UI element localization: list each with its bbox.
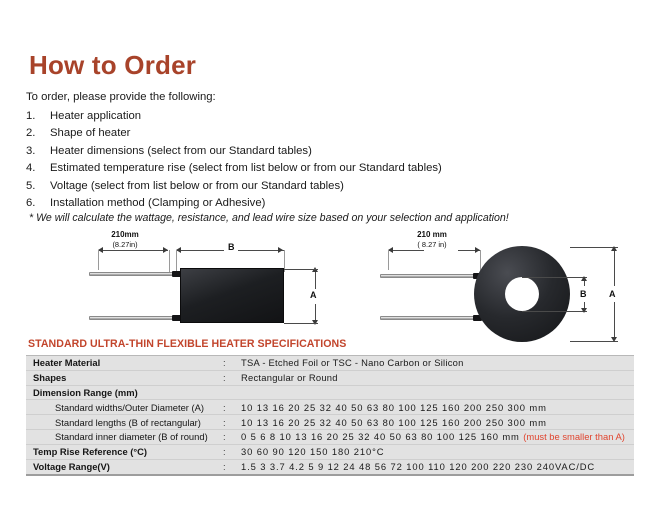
list-item-label: Voltage (select from list below or from … bbox=[50, 178, 616, 195]
table-row: Standard widths/Outer Diameter (A) : 10 … bbox=[26, 400, 634, 415]
round-outer-dim-line-lower bbox=[614, 302, 615, 340]
spec-label: Heater Material bbox=[33, 357, 223, 368]
round-lead-length-label: 210 mm ( 8.27 in) bbox=[386, 230, 478, 249]
round-outer-arrow-down bbox=[611, 337, 617, 342]
rect-lead-length-label: 210mm (8.27in) bbox=[82, 230, 168, 249]
round-lead-wire-top bbox=[380, 274, 478, 278]
list-item-label: Heater dimensions (select from our Stand… bbox=[50, 143, 616, 160]
spec-label: Standard inner diameter (B of round) bbox=[33, 431, 223, 442]
rect-lead-dim-line bbox=[98, 250, 154, 251]
spec-label: Temp Rise Reference (°C) bbox=[33, 446, 223, 457]
table-row: Shapes : Rectangular or Round bbox=[26, 371, 634, 386]
table-row: Temp Rise Reference (°C) : 30 60 90 120 … bbox=[26, 445, 634, 460]
list-item-number: 5. bbox=[26, 178, 50, 195]
round-outer-arrow-up bbox=[611, 246, 617, 251]
round-heater-inner-hole bbox=[505, 277, 539, 311]
spec-colon: : bbox=[223, 357, 241, 368]
round-heater-diagram: 210 mm ( 8.27 in) B A bbox=[372, 228, 634, 340]
spec-table: Heater Material : TSA - Etched Foil or T… bbox=[26, 355, 634, 476]
list-item-label: Installation method (Clamping or Adhesiv… bbox=[50, 195, 616, 212]
list-item-number: 1. bbox=[26, 108, 50, 125]
spec-label: Shapes bbox=[33, 372, 223, 383]
spec-value: TSA - Etched Foil or TSC - Nano Carbon o… bbox=[241, 357, 634, 368]
list-item-label: Estimated temperature rise (select from … bbox=[50, 160, 616, 177]
spec-colon: : bbox=[223, 372, 241, 383]
round-inner-ext-bottom bbox=[522, 311, 587, 312]
spec-value: 1.5 3 3.7 4.2 5 9 12 24 48 56 72 100 110… bbox=[241, 461, 634, 472]
rect-height-ext-bottom bbox=[284, 323, 318, 324]
round-lead-ext-left bbox=[388, 250, 389, 270]
spec-value-warning: (must be smaller than A) bbox=[523, 431, 625, 442]
list-item: 3. Heater dimensions (select from our St… bbox=[26, 143, 616, 160]
spec-value: 0 5 6 8 10 13 16 20 25 32 40 50 63 80 10… bbox=[241, 431, 634, 442]
round-inner-arrow-down bbox=[581, 308, 587, 313]
list-item-number: 4. bbox=[26, 160, 50, 177]
calculation-note: * We will calculate the wattage, resista… bbox=[29, 212, 509, 224]
rect-width-dim-line-left bbox=[176, 250, 224, 251]
spec-value: 30 60 90 120 150 180 210°C bbox=[241, 446, 634, 457]
list-item-number: 3. bbox=[26, 143, 50, 160]
round-lead-dim-line bbox=[388, 250, 424, 251]
spec-label: Standard lengths (B of rectangular) bbox=[33, 417, 223, 428]
table-row: Voltage Range(V) : 1.5 3 3.7 4.2 5 9 12 … bbox=[26, 460, 634, 475]
round-inner-arrow-up bbox=[581, 276, 587, 281]
spec-value: 10 13 16 20 25 32 40 50 63 80 100 125 16… bbox=[241, 417, 634, 428]
list-item-label: Shape of heater bbox=[50, 125, 616, 142]
list-item: 2. Shape of heater bbox=[26, 125, 616, 142]
lead-wire-top bbox=[89, 272, 177, 276]
table-row: Standard inner diameter (B of round) : 0… bbox=[26, 430, 634, 445]
page-title: How to Order bbox=[29, 50, 196, 81]
list-item-number: 6. bbox=[26, 195, 50, 212]
spec-value: Rectangular or Round bbox=[241, 372, 634, 383]
rect-width-arrow-right bbox=[278, 247, 283, 253]
round-inner-label: B bbox=[580, 289, 587, 299]
spec-colon: : bbox=[223, 417, 241, 428]
spec-value: 10 13 16 20 25 32 40 50 63 80 100 125 16… bbox=[241, 402, 634, 413]
list-item-label: Heater application bbox=[50, 108, 616, 125]
rect-width-label: B bbox=[228, 242, 235, 252]
spec-colon: : bbox=[223, 461, 241, 472]
table-row: Dimension Range (mm) bbox=[26, 386, 634, 401]
list-item: 1. Heater application bbox=[26, 108, 616, 125]
rectangular-heater-body bbox=[180, 268, 284, 323]
lead-wire-bottom bbox=[89, 316, 177, 320]
rect-lead-ext-line-left bbox=[98, 250, 99, 270]
list-item: 6. Installation method (Clamping or Adhe… bbox=[26, 195, 616, 212]
intro-text: To order, please provide the following: bbox=[26, 91, 216, 103]
rect-height-label: A bbox=[310, 290, 317, 300]
spec-colon: : bbox=[223, 446, 241, 457]
round-lead-wire-bottom bbox=[380, 316, 478, 320]
spec-label: Dimension Range (mm) bbox=[33, 387, 223, 398]
spec-label: Standard widths/Outer Diameter (A) bbox=[33, 402, 223, 413]
spec-colon: : bbox=[223, 431, 241, 442]
table-row: Heater Material : TSA - Etched Foil or T… bbox=[26, 356, 634, 371]
order-steps-list: 1. Heater application 2. Shape of heater… bbox=[26, 108, 616, 212]
spec-section-heading: STANDARD ULTRA-THIN FLEXIBLE HEATER SPEC… bbox=[28, 338, 346, 350]
rect-height-ext-top bbox=[284, 269, 318, 270]
rect-lead-dim-arrow-right bbox=[163, 247, 168, 253]
rect-height-dim-line-upper bbox=[315, 269, 316, 289]
round-outer-label: A bbox=[609, 289, 616, 299]
round-outer-dim-line-upper bbox=[614, 248, 615, 286]
list-item: 5. Voltage (select from list below or fr… bbox=[26, 178, 616, 195]
list-item: 4. Estimated temperature rise (select fr… bbox=[26, 160, 616, 177]
list-item-number: 2. bbox=[26, 125, 50, 142]
table-row: Standard lengths (B of rectangular) : 10… bbox=[26, 415, 634, 430]
rectangular-heater-diagram: 210mm (8.27in) B A bbox=[62, 228, 342, 340]
spec-colon: : bbox=[223, 402, 241, 413]
round-inner-ext-top bbox=[522, 277, 587, 278]
spec-value-numbers: 0 5 6 8 10 13 16 20 25 32 40 50 63 80 10… bbox=[241, 431, 523, 442]
spec-label: Voltage Range(V) bbox=[33, 461, 223, 472]
heater-diagrams: 210mm (8.27in) B A bbox=[0, 228, 650, 340]
